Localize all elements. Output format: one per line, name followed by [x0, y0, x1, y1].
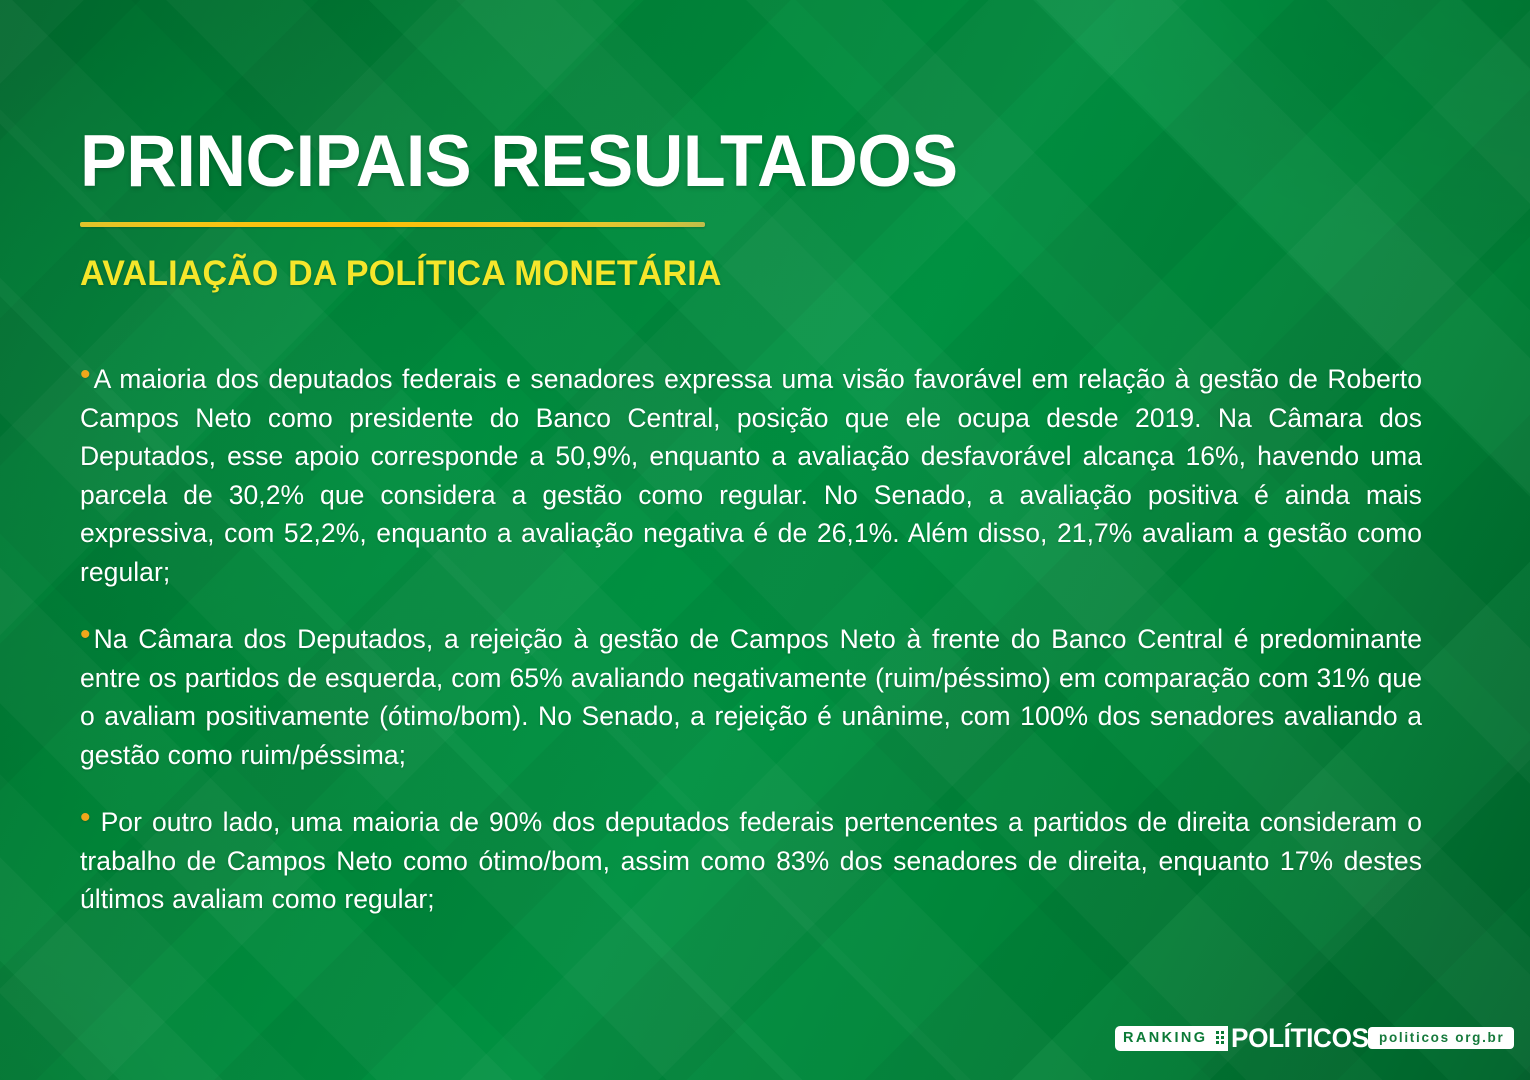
- ranking-word-chip: RANKING: [1115, 1026, 1214, 1051]
- bullet-paragraph-3: •Por outro lado, uma maioria de 90% dos …: [80, 803, 1422, 919]
- bullet-paragraph-2: •Na Câmara dos Deputados, a rejeição à g…: [80, 620, 1422, 774]
- title-divider-rule: [80, 222, 705, 227]
- bullet-marker-icon: •: [80, 801, 91, 834]
- page-title: PRINCIPAIS RESULTADOS: [80, 122, 958, 202]
- grid-dots-icon: [1214, 1026, 1228, 1051]
- bullet-marker-icon: •: [80, 358, 91, 391]
- ranking-politicos-logo: RANKING POLÍTICOS: [1115, 1024, 1373, 1052]
- politicos-word: POLÍTICOS: [1231, 1025, 1369, 1052]
- site-url-badge: politicos org.br: [1368, 1027, 1514, 1049]
- bullet-paragraph-1: •A maioria dos deputados federais e sena…: [80, 360, 1422, 591]
- bullet-marker-icon: •: [80, 618, 91, 651]
- page-subtitle: AVALIAÇÃO DA POLÍTICA MONETÁRIA: [80, 252, 722, 296]
- bullet-paragraph-2-text: Na Câmara dos Deputados, a rejeição à ge…: [80, 624, 1422, 770]
- slide-content: PRINCIPAIS RESULTADOS AVALIAÇÃO DA POLÍT…: [0, 0, 1530, 1080]
- slide-root: PRINCIPAIS RESULTADOS AVALIAÇÃO DA POLÍT…: [0, 0, 1530, 1080]
- bullet-paragraph-3-text: Por outro lado, uma maioria de 90% dos d…: [80, 807, 1422, 914]
- slide-footer: RANKING POLÍTICOS politicos org.br: [0, 1020, 1530, 1064]
- bullet-paragraph-1-text: A maioria dos deputados federais e senad…: [80, 364, 1422, 587]
- body-text-block: •A maioria dos deputados federais e sena…: [80, 360, 1422, 919]
